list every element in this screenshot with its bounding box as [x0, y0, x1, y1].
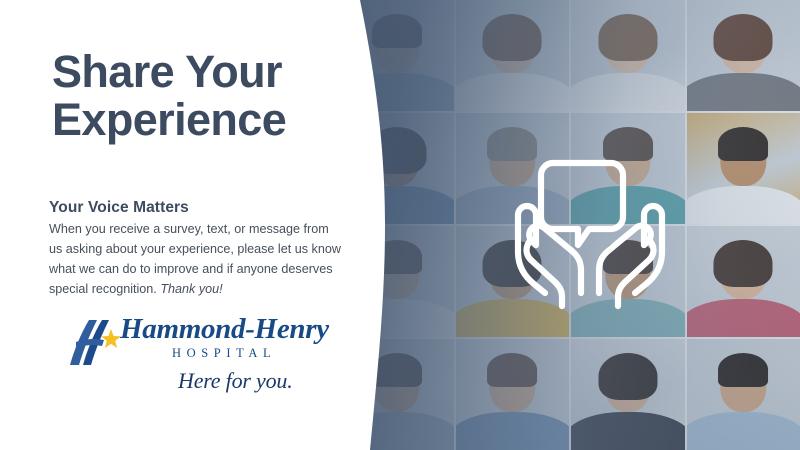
portrait-hair [598, 14, 657, 61]
hands-holding-speech-bubble-icon [505, 140, 675, 315]
photo-tile [687, 0, 800, 111]
portrait-hair [367, 127, 426, 174]
portrait-shoulders [571, 73, 685, 111]
portrait-shoulders [687, 73, 800, 111]
marketing-banner: Share Your Experience Your Voice Matters… [0, 0, 800, 450]
hammond-henry-hospital-logo: Hammond-Henry HOSPITAL Here for you. [62, 313, 312, 405]
portrait-shoulders [687, 412, 800, 450]
logo-tagline: Here for you. [178, 368, 293, 394]
body-paragraph: When you receive a survey, text, or mess… [49, 220, 341, 300]
photo-tile [340, 113, 454, 224]
portrait-hair [598, 353, 657, 400]
portrait-hair [487, 353, 537, 386]
portrait-hair [372, 353, 422, 386]
photo-tile [687, 113, 800, 224]
portrait-shoulders [571, 412, 685, 450]
photo-tile [340, 0, 454, 111]
portrait-shoulders [340, 299, 454, 337]
portrait-hair [483, 14, 542, 61]
photo-tile [571, 339, 685, 450]
portrait-hair [718, 127, 768, 160]
portrait-hair [372, 240, 422, 273]
portrait-shoulders [687, 186, 800, 224]
portrait-shoulders [687, 299, 800, 337]
portrait-hair [714, 240, 773, 287]
portrait-shoulders [340, 412, 454, 450]
logo-wordmark: Hammond-Henry [120, 313, 329, 346]
left-content-panel: Share Your Experience Your Voice Matters… [0, 0, 350, 450]
portrait-shoulders [340, 186, 454, 224]
page-title: Share Your Experience [52, 48, 352, 144]
portrait-hair [718, 353, 768, 386]
photo-tile [340, 226, 454, 337]
portrait-shoulders [456, 73, 570, 111]
section-subheading: Your Voice Matters [49, 199, 189, 217]
logo-subtext-hospital: HOSPITAL [172, 346, 276, 361]
portrait-shoulders [340, 73, 454, 111]
portrait-shoulders [456, 412, 570, 450]
photo-tile [571, 0, 685, 111]
portrait-hair [714, 14, 773, 61]
photo-tile [687, 226, 800, 337]
photo-tile [456, 0, 570, 111]
thank-you-text: Thank you! [160, 282, 222, 296]
photo-tile [456, 339, 570, 450]
portrait-hair [372, 14, 422, 47]
photo-tile [687, 339, 800, 450]
stylized-h-with-star-icon [62, 317, 124, 369]
photo-tile [340, 339, 454, 450]
